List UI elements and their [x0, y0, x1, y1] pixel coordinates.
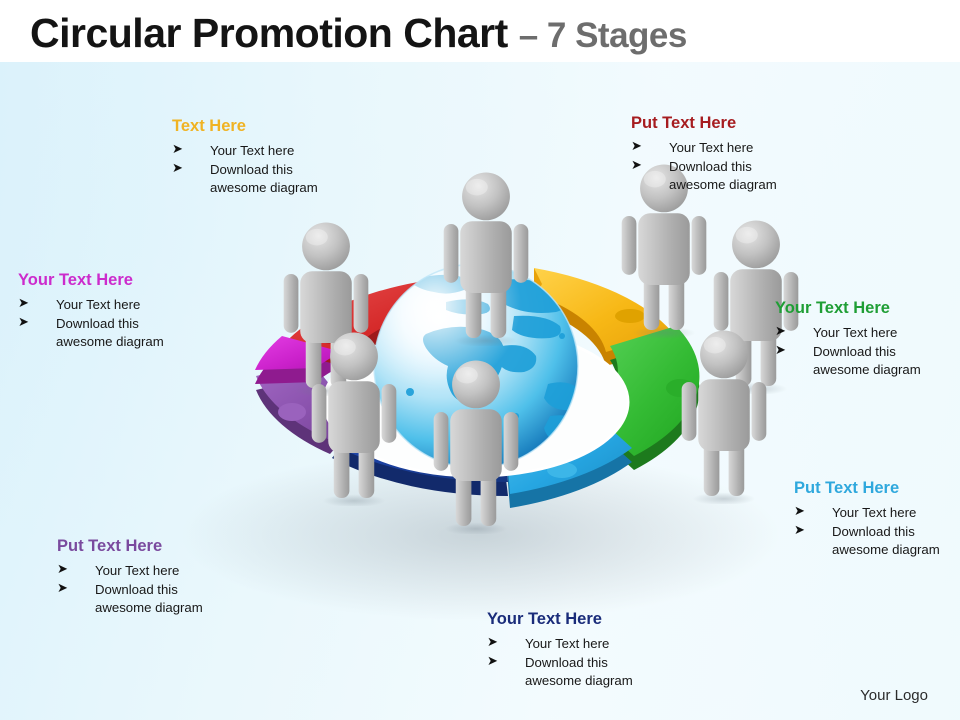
arrow-bullet-icon: ➤: [631, 157, 642, 176]
arrow-bullet-icon: ➤: [18, 295, 29, 314]
arrow-bullet-icon: ➤: [57, 580, 68, 599]
bullet-list: ➤Your Text here ➤Download this awesome d…: [794, 504, 940, 560]
bullet-item-continued: awesome diagram: [631, 176, 777, 195]
slide-canvas: Circular Promotion Chart – 7 Stages: [0, 0, 960, 720]
bullet-text: Download this: [95, 582, 178, 597]
bullet-item: ➤Download this: [172, 161, 318, 180]
arrow-bullet-icon: ➤: [172, 160, 183, 179]
bullet-text: awesome diagram: [525, 673, 633, 688]
page-title-main: Circular Promotion Chart: [30, 10, 508, 56]
text-block-heading: Your Text Here: [775, 298, 921, 318]
bullet-item: ➤Your Text here: [487, 635, 633, 654]
bullet-item-continued: awesome diagram: [172, 179, 318, 198]
bullet-text: Your Text here: [56, 297, 140, 312]
text-block-bottom-center: Your Text Here ➤Your Text here ➤Download…: [487, 609, 633, 691]
bullet-text: Download this: [813, 344, 896, 359]
page-title: Circular Promotion Chart – 7 Stages: [30, 8, 687, 61]
bullet-list: ➤Your Text here ➤Download this awesome d…: [775, 324, 921, 380]
bullet-list: ➤Your Text here ➤Download this awesome d…: [18, 296, 164, 352]
bullet-text: Your Text here: [669, 140, 753, 155]
text-block-bottom-left: Put Text Here ➤Your Text here ➤Download …: [57, 536, 203, 618]
bullet-item: ➤Download this: [18, 315, 164, 334]
bullet-text: Download this: [525, 655, 608, 670]
arrow-bullet-icon: ➤: [775, 342, 786, 361]
text-block-heading: Put Text Here: [57, 536, 203, 556]
text-block-right: Your Text Here ➤Your Text here ➤Download…: [775, 298, 921, 380]
bullet-item: ➤Download this: [794, 523, 940, 542]
bullet-text: Your Text here: [95, 563, 179, 578]
bullet-text: Your Text here: [525, 636, 609, 651]
bullet-text: awesome diagram: [813, 362, 921, 377]
bullet-text: awesome diagram: [210, 180, 318, 195]
text-block-top-right: Put Text Here ➤Your Text here ➤Download …: [631, 113, 777, 195]
bullet-text: Download this: [210, 162, 293, 177]
bullet-text: Download this: [56, 316, 139, 331]
text-block-heading: Your Text Here: [18, 270, 164, 290]
text-block-heading: Your Text Here: [487, 609, 633, 629]
bullet-text: Your Text here: [832, 505, 916, 520]
bullet-item: ➤Your Text here: [631, 139, 777, 158]
bullet-text: awesome diagram: [95, 600, 203, 615]
bullet-text: awesome diagram: [56, 334, 164, 349]
text-block-heading: Text Here: [172, 116, 318, 136]
arrow-bullet-icon: ➤: [775, 323, 786, 342]
page-title-sub: – 7 Stages: [519, 16, 687, 55]
bullet-item-continued: awesome diagram: [57, 599, 203, 618]
bullet-item: ➤Your Text here: [172, 142, 318, 161]
bullet-text: Your Text here: [210, 143, 294, 158]
arrow-bullet-icon: ➤: [487, 634, 498, 653]
bullet-list: ➤Your Text here ➤Download this awesome d…: [487, 635, 633, 691]
bullet-text: Download this: [669, 159, 752, 174]
bullet-item-continued: awesome diagram: [775, 361, 921, 380]
bullet-item: ➤Download this: [57, 581, 203, 600]
bullet-text: Download this: [832, 524, 915, 539]
bullet-item: ➤Your Text here: [57, 562, 203, 581]
arrow-bullet-icon: ➤: [487, 653, 498, 672]
bullet-list: ➤Your Text here ➤Download this awesome d…: [57, 562, 203, 618]
bullet-item: ➤Download this: [631, 158, 777, 177]
text-block-heading: Put Text Here: [794, 478, 940, 498]
bullet-item-continued: awesome diagram: [794, 541, 940, 560]
bullet-item: ➤Download this: [487, 654, 633, 673]
bullet-item-continued: awesome diagram: [18, 333, 164, 352]
bullet-text: Your Text here: [813, 325, 897, 340]
arrow-bullet-icon: ➤: [57, 561, 68, 580]
logo-placeholder: Your Logo: [860, 687, 928, 704]
bullet-text: awesome diagram: [669, 177, 777, 192]
bullet-list: ➤Your Text here ➤Download this awesome d…: [631, 139, 777, 195]
arrow-bullet-icon: ➤: [794, 503, 805, 522]
text-block-top-left: Text Here ➤Your Text here ➤Download this…: [172, 116, 318, 198]
arrow-bullet-icon: ➤: [172, 141, 183, 160]
bullet-list: ➤Your Text here ➤Download this awesome d…: [172, 142, 318, 198]
circular-promotion-diagram: [110, 140, 850, 640]
text-block-heading: Put Text Here: [631, 113, 777, 133]
bullet-item: ➤Your Text here: [18, 296, 164, 315]
bullet-item: ➤Your Text here: [794, 504, 940, 523]
text-block-bottom-right: Put Text Here ➤Your Text here ➤Download …: [794, 478, 940, 560]
text-block-left: Your Text Here ➤Your Text here ➤Download…: [18, 270, 164, 352]
arrow-bullet-icon: ➤: [794, 522, 805, 541]
bullet-item: ➤Download this: [775, 343, 921, 362]
bullet-item-continued: awesome diagram: [487, 672, 633, 691]
arrow-bullet-icon: ➤: [631, 138, 642, 157]
bullet-item: ➤Your Text here: [775, 324, 921, 343]
bullet-text: awesome diagram: [832, 542, 940, 557]
arrow-bullet-icon: ➤: [18, 314, 29, 333]
